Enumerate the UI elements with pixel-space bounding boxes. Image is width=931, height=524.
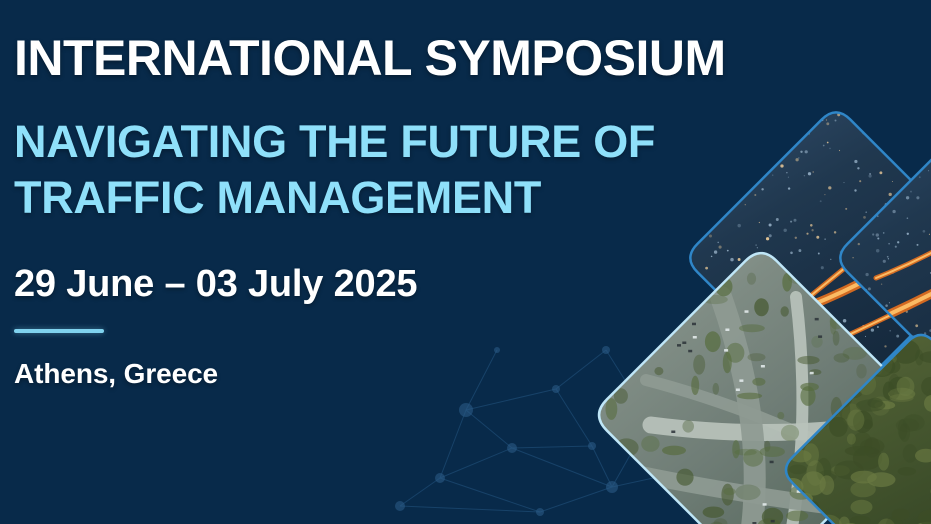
banner-text-column: INTERNATIONAL SYMPOSIUM NAVIGATING THE F… — [14, 0, 854, 524]
city-light — [915, 324, 918, 327]
city-light — [877, 112, 879, 114]
city-light — [917, 244, 919, 246]
city-light — [877, 326, 879, 328]
city-light — [899, 147, 902, 150]
city-light — [889, 330, 891, 332]
city-light — [865, 273, 868, 276]
city-light — [858, 243, 860, 245]
city-light — [928, 170, 929, 171]
city-light — [888, 243, 890, 245]
tree-canopy — [897, 377, 915, 397]
city-light — [927, 128, 930, 131]
city-light — [854, 189, 856, 191]
symposium-banner: INTERNATIONAL SYMPOSIUM NAVIGATING THE F… — [0, 0, 931, 524]
city-light — [886, 137, 889, 140]
tree-canopy — [915, 350, 923, 366]
tree-canopy — [878, 453, 889, 471]
city-light — [871, 132, 873, 134]
divider-rule — [14, 329, 104, 333]
city-light — [885, 304, 888, 307]
city-light — [923, 230, 926, 233]
city-light — [910, 191, 912, 193]
city-light — [876, 233, 879, 236]
city-light — [888, 258, 889, 259]
city-light — [895, 246, 897, 248]
city-light — [871, 328, 874, 331]
city-light — [915, 145, 917, 147]
tree-canopy — [899, 423, 910, 442]
event-dates: 29 June – 03 July 2025 — [14, 262, 417, 306]
city-light — [865, 336, 866, 337]
city-light — [857, 167, 859, 169]
city-light — [896, 335, 899, 338]
tree-canopy — [851, 471, 877, 484]
tree-canopy — [898, 467, 916, 476]
city-light — [907, 113, 909, 115]
city-light — [854, 160, 857, 163]
city-light — [877, 237, 879, 239]
city-light — [869, 173, 871, 175]
city-light — [907, 233, 909, 235]
city-light — [921, 121, 924, 124]
city-light — [894, 116, 897, 119]
city-light — [892, 210, 895, 213]
city-light — [859, 180, 861, 182]
vegetation-patch — [856, 364, 866, 379]
city-light — [914, 160, 915, 161]
city-light — [916, 196, 919, 199]
city-light — [889, 193, 892, 196]
city-light — [872, 233, 874, 235]
city-light — [883, 232, 885, 234]
page-title: INTERNATIONAL SYMPOSIUM — [14, 30, 726, 86]
city-light — [889, 302, 890, 303]
tree-canopy — [892, 509, 910, 521]
city-light — [884, 345, 886, 347]
tree-canopy — [868, 398, 883, 408]
city-light — [876, 249, 879, 252]
city-light — [884, 129, 887, 132]
city-light — [868, 287, 871, 290]
subtitle-line-2: TRAFFIC MANAGEMENT — [14, 170, 655, 226]
city-light — [889, 130, 890, 131]
city-light — [907, 217, 909, 219]
city-light — [897, 118, 899, 120]
city-light — [906, 196, 909, 199]
event-location: Athens, Greece — [14, 357, 218, 391]
city-light — [887, 256, 889, 258]
city-light — [881, 284, 882, 285]
tree-canopy — [903, 444, 918, 463]
city-light — [919, 176, 921, 178]
city-light — [873, 112, 875, 114]
city-light — [869, 174, 872, 177]
city-light — [865, 211, 867, 213]
city-light — [879, 171, 882, 174]
city-light — [883, 260, 886, 263]
city-light — [902, 109, 905, 112]
subtitle-line-1: NAVIGATING THE FUTURE OF — [14, 116, 655, 167]
city-light — [863, 216, 866, 219]
banner-subtitle: NAVIGATING THE FUTURE OF TRAFFIC MANAGEM… — [14, 114, 655, 226]
city-light — [892, 181, 893, 182]
city-light — [929, 234, 930, 235]
city-light — [925, 114, 927, 116]
city-light — [917, 149, 920, 152]
city-light — [897, 241, 899, 243]
city-light — [858, 107, 862, 111]
